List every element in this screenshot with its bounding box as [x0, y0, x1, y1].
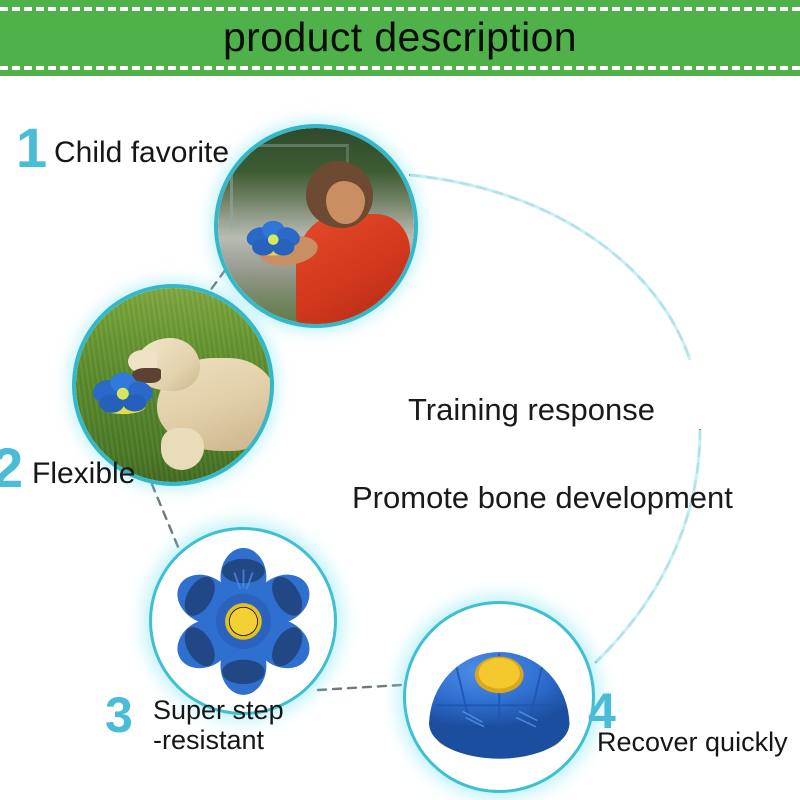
product-description-infographic: product description	[0, 0, 800, 800]
step-3-number: 3	[105, 690, 133, 740]
disc-ball-in-hand	[238, 212, 309, 271]
step-4-label: Recover quickly	[597, 727, 788, 757]
arc-glow-upper-right	[410, 175, 690, 360]
center-headline: Training response Promote bone developme…	[352, 344, 800, 564]
step-4-photo-circle	[406, 604, 592, 790]
step-3-label: Super step -resistant	[153, 695, 284, 755]
page-title: product description	[0, 12, 800, 62]
photo-dog-catching-disc-ball	[76, 288, 270, 482]
step-1-number: 1	[16, 120, 47, 176]
step-3-photo-circle	[152, 530, 334, 712]
arc-dashed-upper-right	[410, 175, 690, 360]
header-banner: product description	[0, 0, 800, 76]
disc-ball-on-grass	[84, 362, 162, 428]
step-2-photo-circle	[76, 288, 270, 482]
center-headline-line-2: Promote bone development	[352, 476, 800, 520]
center-headline-line-1: Training response	[352, 388, 800, 432]
banner-dashed-rule-top	[0, 7, 800, 11]
connector-step3-to-step4	[318, 684, 418, 690]
step-2-label: Flexible	[32, 457, 135, 491]
photo-domed-blue-ball	[423, 630, 576, 764]
banner-dashed-rule-bottom	[0, 66, 800, 70]
boy-red-shirt	[296, 214, 410, 324]
step-1-label: Child favorite	[54, 136, 229, 170]
step-2-number: 2	[0, 440, 23, 496]
photo-flattened-flower-disc	[167, 545, 320, 698]
